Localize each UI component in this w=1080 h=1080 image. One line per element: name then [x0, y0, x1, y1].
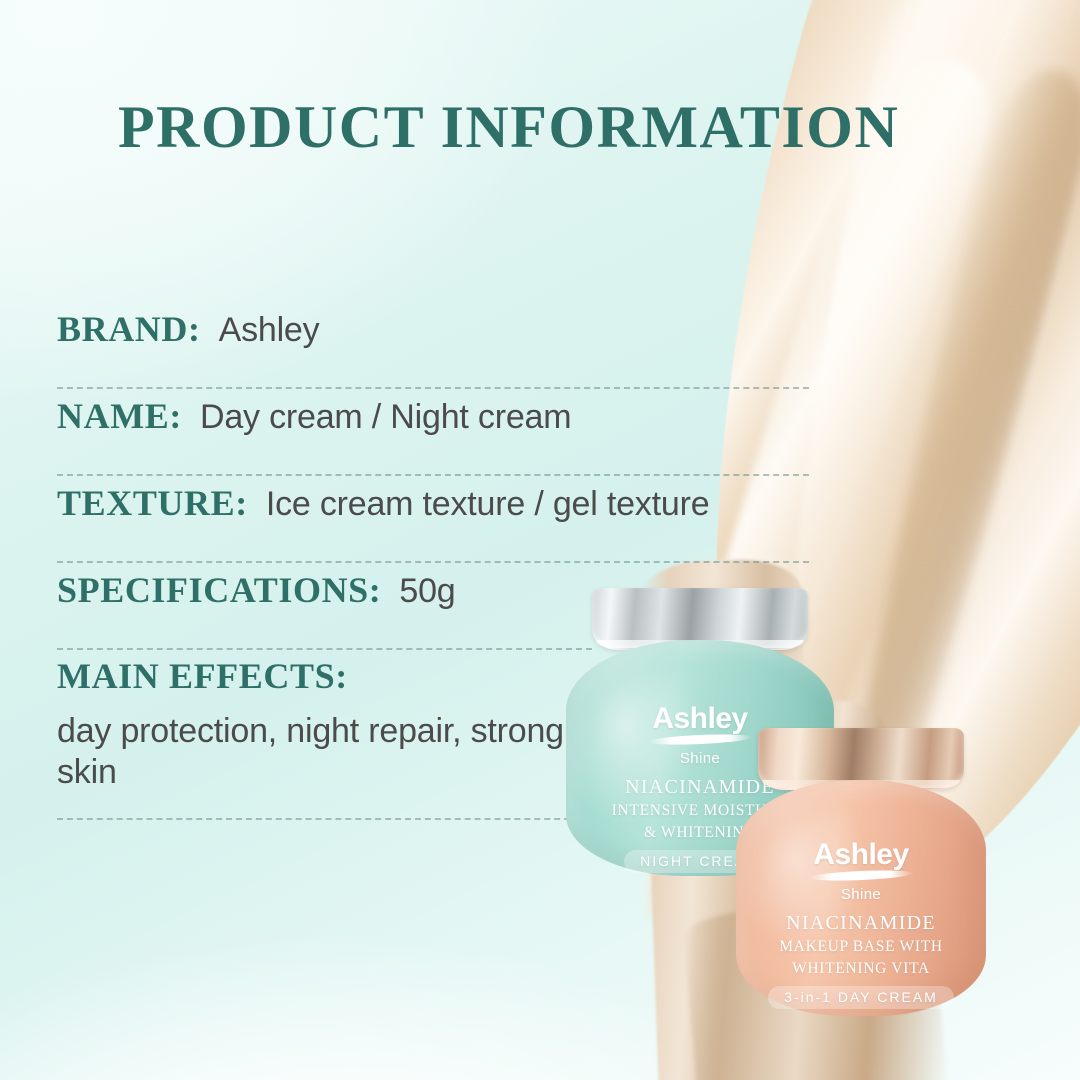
main-effects-text: day protection, night repair, strong ski… [57, 711, 577, 794]
spec-label-name: NAME: [57, 395, 182, 437]
spec-value-name: Day cream / Night cream [200, 398, 571, 437]
spec-value-brand: Ashley [219, 311, 320, 350]
spec-row-texture: TEXTURE: Ice cream texture / gel texture [57, 482, 817, 569]
product-information-poster: PRODUCT INFORMATION BRAND: Ashley NAME: … [0, 0, 1080, 1080]
spec-label-brand: BRAND: [57, 308, 201, 350]
spec-divider-texture [57, 561, 809, 563]
spec-row-brand: BRAND: Ashley [57, 308, 817, 395]
page-title: PRODUCT INFORMATION [118, 93, 899, 162]
spec-value-specifications: 50g [399, 572, 455, 611]
day-cream-brand: Ashley [736, 840, 986, 870]
spec-divider-specifications [57, 648, 592, 650]
spec-value-texture: Ice cream texture / gel texture [266, 485, 710, 524]
main-effects-divider [57, 818, 590, 820]
day-cream-badge: 3-in-1 DAY CREAM [768, 986, 954, 1009]
spec-divider-name [57, 474, 809, 476]
spec-label-specifications: SPECIFICATIONS: [57, 569, 381, 611]
product-jar-day-cream: Ashley Shine NIACINAMIDE MAKEUP BASE WIT… [736, 728, 986, 1016]
day-cream-brand-sub: Shine [736, 886, 986, 903]
spec-label-texture: TEXTURE: [57, 482, 248, 524]
spec-divider-brand [57, 387, 809, 389]
day-cream-description-1: MAKEUP BASE WITH [736, 938, 986, 957]
day-cream-ingredient: NIACINAMIDE [736, 912, 986, 935]
day-cream-jar-label: Ashley Shine NIACINAMIDE MAKEUP BASE WIT… [736, 840, 986, 1009]
day-cream-description-2: WHITENING VITA [736, 960, 986, 979]
spec-row-name: NAME: Day cream / Night cream [57, 395, 817, 482]
